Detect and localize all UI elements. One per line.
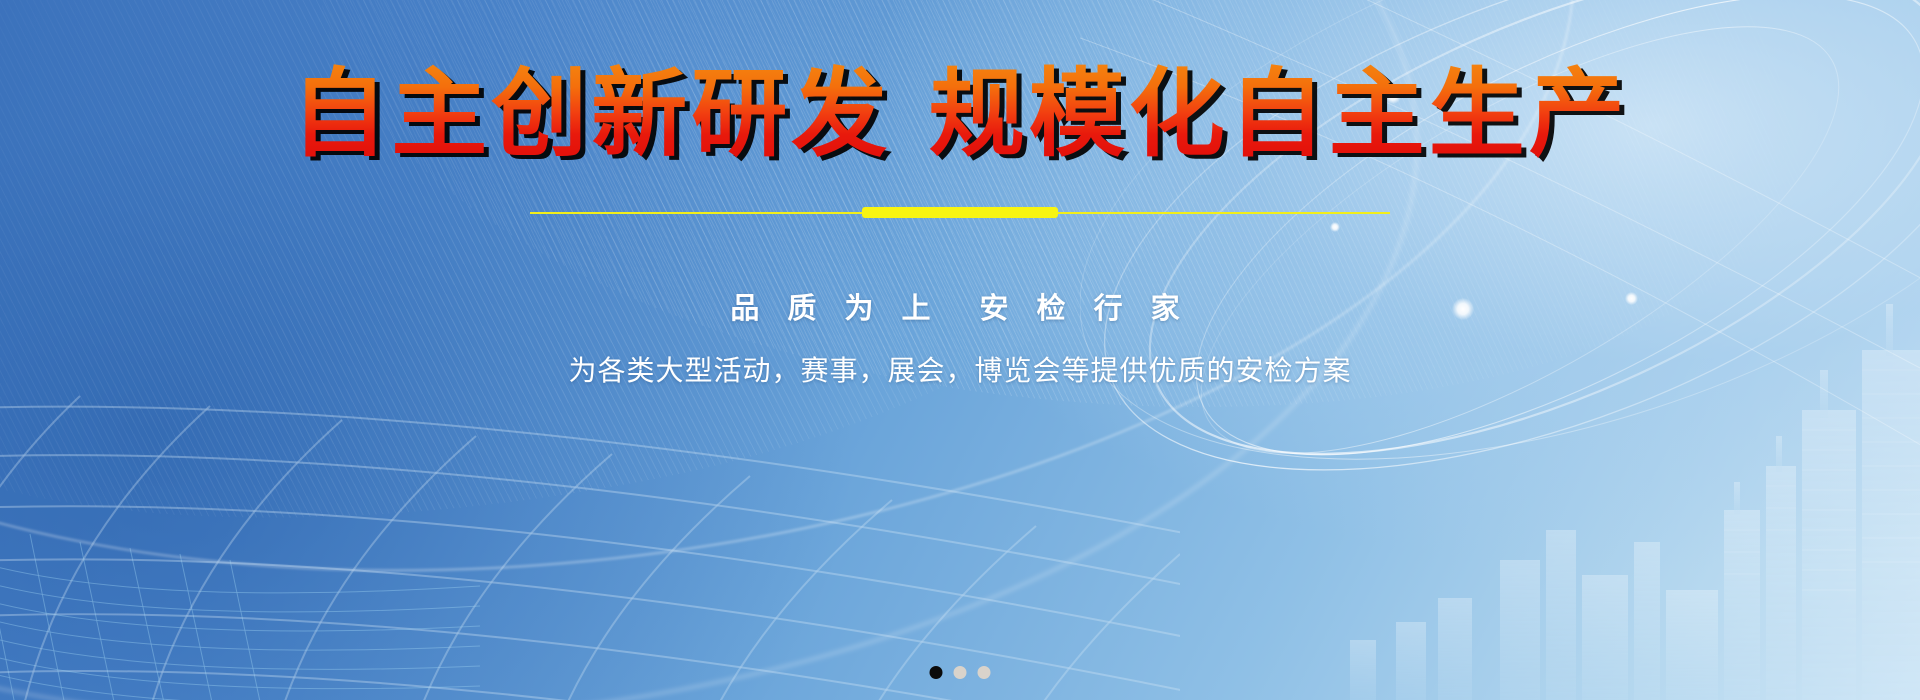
banner-content: 自主创新研发 规模化自主生产 品 质 为 上 安 检 行 家 为各类大型活动，赛… (0, 0, 1920, 700)
carousel-dot-1[interactable] (930, 666, 943, 679)
divider (530, 207, 1390, 219)
tagline: 品 质 为 上 安 检 行 家 (730, 285, 1189, 327)
carousel-indicators[interactable] (930, 666, 991, 679)
subtitle: 为各类大型活动，赛事，展会，博览会等提供优质的安检方案 (568, 349, 1351, 389)
hero-banner: 自主创新研发 规模化自主生产 品 质 为 上 安 检 行 家 为各类大型活动，赛… (0, 0, 1920, 700)
carousel-dot-3[interactable] (978, 666, 991, 679)
divider-thick-line (862, 207, 1058, 218)
carousel-dot-2[interactable] (954, 666, 967, 679)
page-title: 自主创新研发 规模化自主生产 (291, 64, 1628, 165)
